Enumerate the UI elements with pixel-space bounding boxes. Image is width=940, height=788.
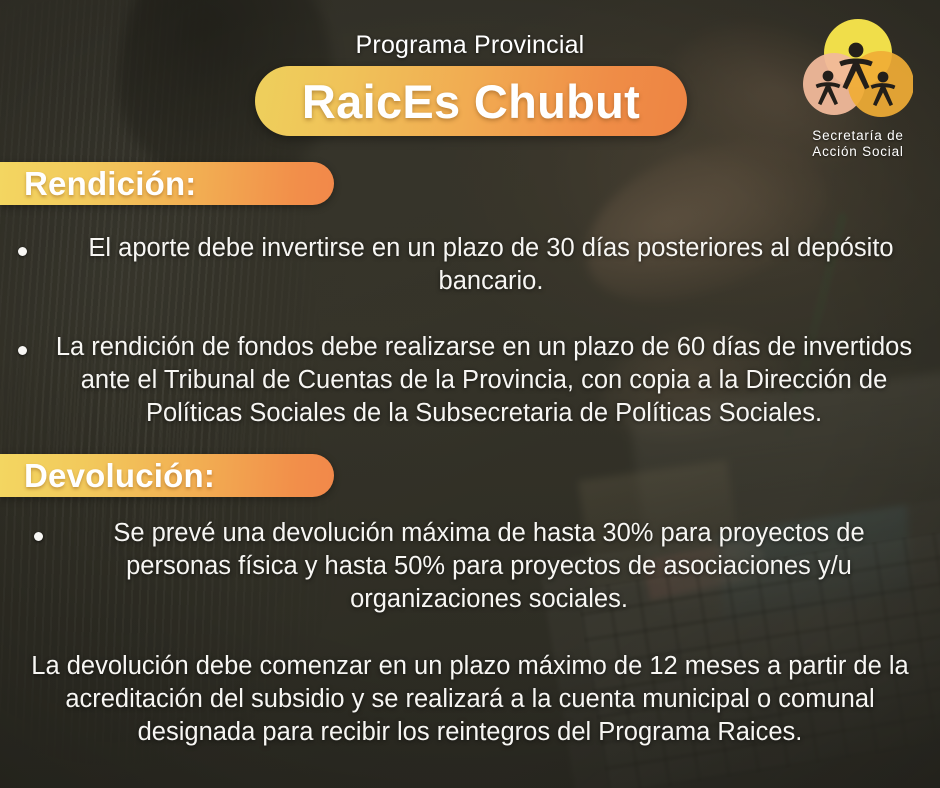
program-title-badge: RaicEs Chubut bbox=[255, 66, 687, 136]
bullet-dot-icon bbox=[18, 247, 27, 256]
bullet-item-devolucion-1: Se prevé una devolución máxima de hasta … bbox=[0, 517, 940, 616]
logo-caption-line-2: Acción Social bbox=[798, 144, 918, 160]
program-title: RaicEs Chubut bbox=[302, 78, 640, 125]
bullet-dot-icon bbox=[18, 346, 27, 355]
secretaria-logo: Secretaría de Acción Social bbox=[798, 16, 918, 161]
section-heading-devolucion: Devolución: bbox=[0, 454, 334, 497]
bullet-item-rendicion-2-text: La rendición de fondos debe realizarse e… bbox=[0, 331, 940, 430]
logo-caption-line-1: Secretaría de bbox=[798, 128, 918, 144]
bullet-item-rendicion-1-text: El aporte debe invertirse en un plazo de… bbox=[0, 232, 940, 298]
bullet-item-rendicion-2: La rendición de fondos debe realizarse e… bbox=[0, 331, 940, 430]
section-heading-rendicion: Rendición: bbox=[0, 162, 334, 205]
bullet-dot-icon bbox=[34, 532, 43, 541]
bullet-item-rendicion-1: El aporte debe invertirse en un plazo de… bbox=[0, 232, 940, 298]
devolucion-note: La devolución debe comenzar en un plazo … bbox=[0, 650, 940, 749]
section-heading-devolucion-label: Devolución: bbox=[24, 459, 215, 492]
logo-caption: Secretaría de Acción Social bbox=[798, 128, 918, 161]
logo-circles-icon bbox=[803, 16, 913, 124]
devolucion-note-text: La devolución debe comenzar en un plazo … bbox=[0, 650, 940, 749]
bullet-item-devolucion-1-text: Se prevé una devolución máxima de hasta … bbox=[0, 517, 940, 616]
poster-content: Programa Provincial RaicEs Chubut bbox=[0, 0, 940, 788]
poster-root: Programa Provincial RaicEs Chubut bbox=[0, 0, 940, 788]
section-heading-rendicion-label: Rendición: bbox=[24, 167, 197, 200]
